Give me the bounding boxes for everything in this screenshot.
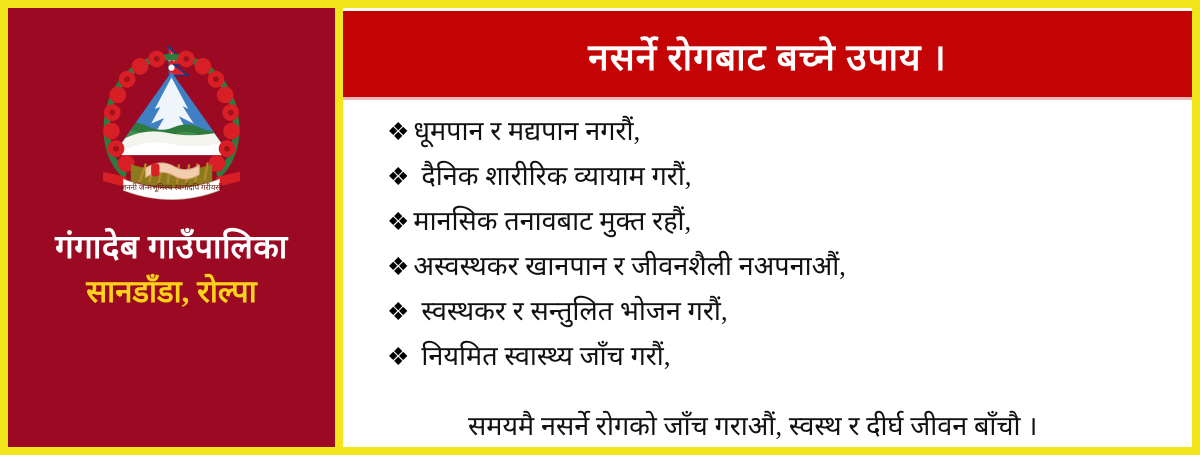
diamond-bullet-icon: ❖ — [387, 165, 409, 190]
list-item: ❖ अस्वस्थकर खानपान र जीवनशैली नअपनाऔं, — [387, 253, 1192, 298]
list-item: ❖ मानसिक तनावबाट मुक्त रहौं, — [387, 208, 1192, 253]
content-panel: नसर्ने रोगबाट बच्ने उपाय । ❖ धूमपान र मद… — [343, 8, 1192, 447]
tip-text: नियमित स्वास्थ्य जाँच गरौं, — [421, 343, 670, 370]
diamond-bullet-icon: ❖ — [387, 120, 409, 145]
diamond-bullet-icon: ❖ — [387, 300, 409, 325]
list-item: ❖ दैनिक शारीरिक व्यायाम गरौं, — [387, 163, 1192, 208]
nepal-coat-of-arms-emblem-icon: जननी जन्मभूमिश्च स्वर्गादपि गरीयसी — [79, 33, 264, 218]
diamond-bullet-icon: ❖ — [387, 255, 409, 280]
list-item: ❖ नियमित स्वास्थ्य जाँच गरौं, — [387, 343, 1192, 388]
prevention-tips-list: ❖ धूमपान र मद्यपान नगरौं, ❖ दैनिक शारीरि… — [343, 100, 1192, 388]
closing-slogan: समयमै नसर्ने रोगको जाँच गराऔं, स्वस्थ र … — [343, 406, 1192, 443]
banner-title: नसर्ने रोगबाट बच्ने उपाय । — [588, 30, 947, 81]
municipality-name: गंगादेब गाउँपालिका — [55, 228, 288, 269]
tip-text: स्वस्थकर र सन्तुलित भोजन गरौं, — [421, 298, 727, 325]
tip-text: दैनिक शारीरिक व्यायाम गरौं, — [421, 163, 691, 190]
tip-text: धूमपान र मद्यपान नगरौं, — [413, 118, 640, 145]
health-awareness-banner: जननी जन्मभूमिश्च स्वर्गादपि गरीयसी गंगाद… — [0, 0, 1200, 455]
list-item: ❖ स्वस्थकर र सन्तुलित भोजन गरौं, — [387, 298, 1192, 343]
diamond-bullet-icon: ❖ — [387, 210, 409, 235]
list-item: ❖ धूमपान र मद्यपान नगरौं, — [387, 118, 1192, 163]
diamond-bullet-icon: ❖ — [387, 345, 409, 370]
banner-title-bar: नसर्ने रोगबाट बच्ने उपाय । — [343, 8, 1192, 100]
tip-text: अस्वस्थकर खानपान र जीवनशैली नअपनाऔं, — [413, 253, 846, 280]
municipality-address: सानडाँडा, रोल्पा — [86, 273, 257, 310]
municipality-identity-panel: जननी जन्मभूमिश्च स्वर्गादपि गरीयसी गंगाद… — [8, 8, 335, 447]
tip-text: मानसिक तनावबाट मुक्त रहौं, — [413, 208, 691, 235]
svg-text:जननी जन्मभूमिश्च स्वर्गादपि गर: जननी जन्मभूमिश्च स्वर्गादपि गरीयसी — [120, 182, 223, 193]
